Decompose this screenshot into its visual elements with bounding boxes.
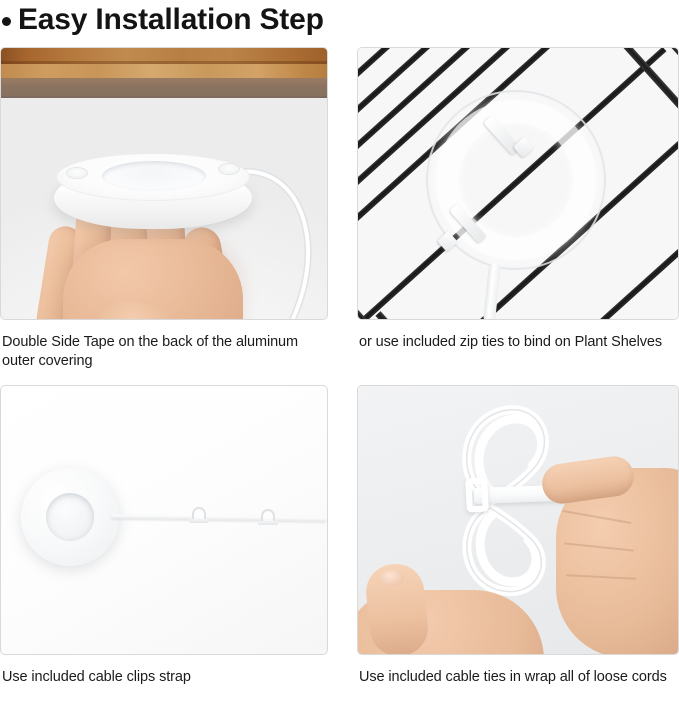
installation-photo-cabletie bbox=[357, 385, 679, 655]
installation-photo-cableclip bbox=[0, 385, 328, 655]
power-cable-graphic bbox=[111, 514, 326, 521]
bullet-dot-icon bbox=[2, 17, 11, 26]
ring-light-product-graphic bbox=[54, 153, 252, 245]
photo-canvas-tape bbox=[1, 48, 327, 319]
left-hand-graphic bbox=[357, 564, 554, 655]
ring-light-product-graphic bbox=[436, 100, 596, 260]
photo-canvas-cableclip bbox=[1, 386, 327, 654]
page-title-text: Easy Installation Step bbox=[18, 5, 324, 35]
caption-tape: Double Side Tape on the back of the alum… bbox=[2, 333, 322, 371]
photo-canvas-cabletie bbox=[358, 386, 678, 654]
page-title: Easy Installation Step bbox=[0, 0, 679, 42]
caption-ziptie: or use included zip ties to bind on Plan… bbox=[359, 333, 679, 352]
ring-light-product-graphic bbox=[21, 468, 119, 566]
installation-photo-tape bbox=[0, 47, 328, 320]
installation-photo-ziptie bbox=[357, 47, 679, 320]
wooden-shelf-graphic bbox=[0, 48, 328, 98]
caption-cabletie: Use included cable ties in wrap all of l… bbox=[359, 668, 679, 687]
photo-canvas-ziptie bbox=[358, 48, 678, 319]
caption-cableclip: Use included cable clips strap bbox=[2, 668, 322, 687]
cable-tie-loop-graphic bbox=[465, 477, 489, 512]
cable-clip-graphic bbox=[258, 509, 278, 525]
right-hand-graphic bbox=[536, 460, 679, 655]
cable-clip-graphic bbox=[189, 507, 209, 523]
